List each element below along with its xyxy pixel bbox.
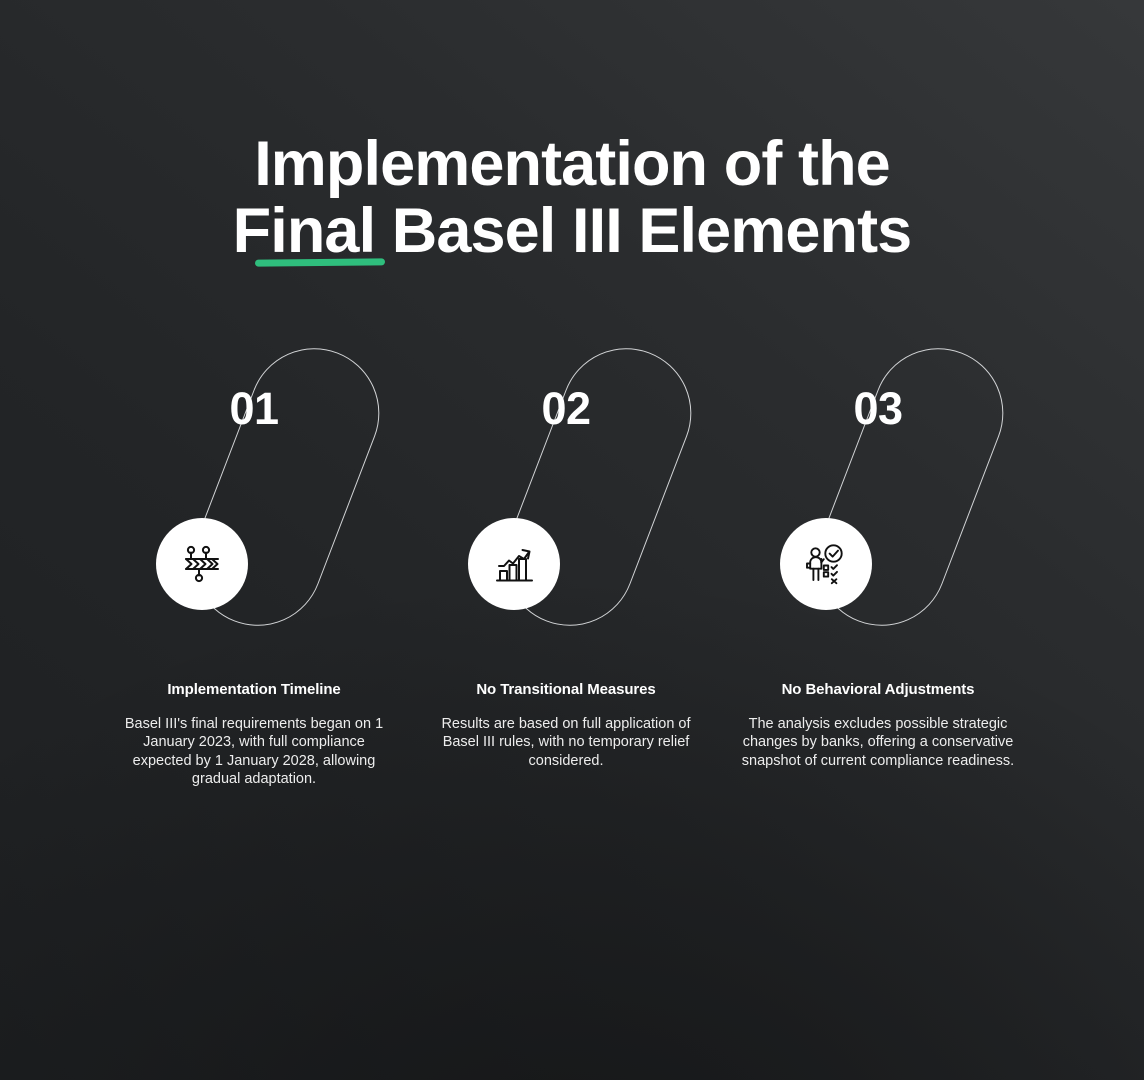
step-item-03: 03 <box>722 350 1034 870</box>
step-text-block: No Behavioral Adjustments The analysis e… <box>722 680 1034 770</box>
step-text-block: No Transitional Measures Results are bas… <box>410 680 722 770</box>
step-heading: No Behavioral Adjustments <box>730 680 1026 699</box>
step-icon-disc <box>156 518 248 610</box>
page-title: Implementation of the Final Basel III El… <box>0 131 1144 265</box>
step-icon-disc <box>468 518 560 610</box>
step-item-02: 02 <box>410 350 722 870</box>
step-icon-disc <box>780 518 872 610</box>
title-line-1: Implementation of the <box>0 131 1144 198</box>
growth-bar-chart-icon <box>489 539 539 589</box>
step-body: Basel III's final requirements began on … <box>106 715 402 788</box>
step-item-01: 01 <box>98 350 410 870</box>
infographic-slide: Implementation of the Final Basel III El… <box>0 0 1144 1080</box>
step-text-block: Implementation Timeline Basel III's fina… <box>98 680 410 788</box>
step-heading: Implementation Timeline <box>106 680 402 699</box>
step-number: 01 <box>98 383 410 435</box>
step-number: 02 <box>410 383 722 435</box>
title-accent-underline <box>255 258 385 266</box>
compliance-checklist-person-icon <box>801 539 851 589</box>
step-heading: No Transitional Measures <box>418 680 714 699</box>
title-line-2: Final Basel III Elements <box>0 198 1144 265</box>
step-body: Results are based on full application of… <box>418 715 714 770</box>
timeline-milestones-icon <box>177 539 227 589</box>
step-body: The analysis excludes possible strategic… <box>730 715 1026 770</box>
step-number: 03 <box>722 383 1034 435</box>
steps-container: 01 <box>0 350 1144 870</box>
